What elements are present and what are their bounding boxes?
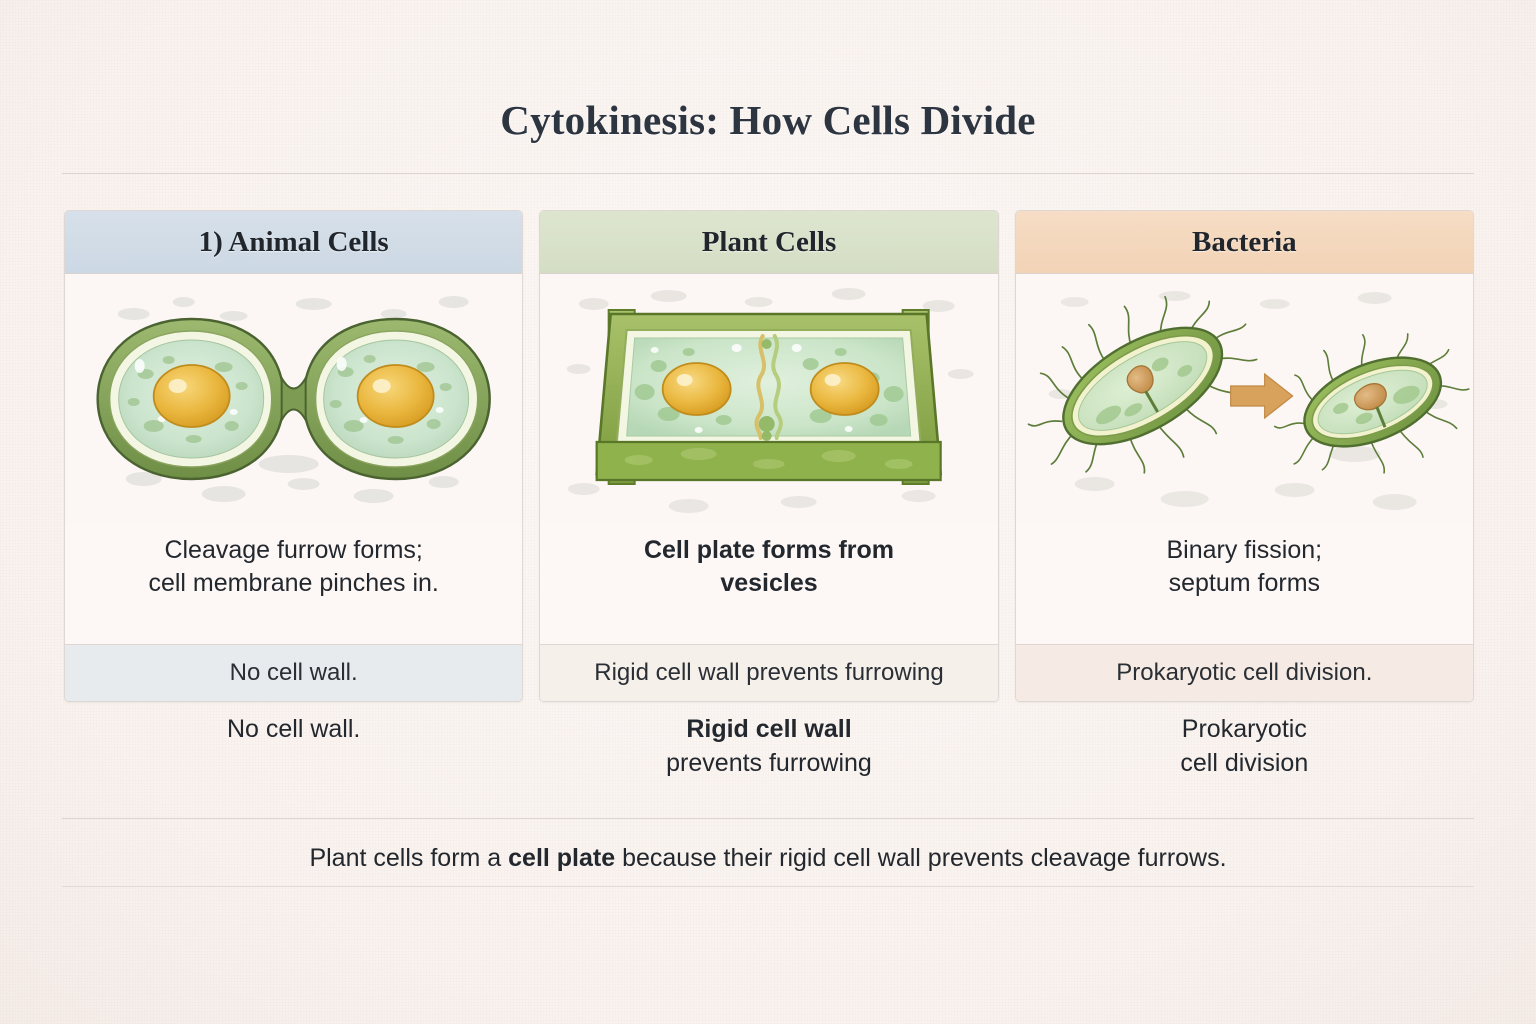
poster-sheet: Cytokinesis: How Cells Divide 1) Animal … — [0, 0, 1536, 1024]
animal-daughter-cell-left — [98, 319, 284, 479]
divider-top — [62, 173, 1474, 174]
panel-plant-cells-header: Plant Cells — [540, 211, 997, 274]
panel-bacteria-footer: Prokaryotic cell division. — [1016, 644, 1473, 701]
panel-bacteria-header: Bacteria — [1016, 211, 1473, 274]
panel-bacteria-caption: Binary fission; septum forms — [1016, 524, 1473, 644]
subcaption-line-2: cell division — [1015, 746, 1474, 780]
animal-daughter-cell-right — [304, 319, 490, 479]
panel-bacteria[interactable]: Bacteria — [1015, 210, 1474, 702]
plant-cell-cell-plate-illustration — [540, 274, 997, 524]
panel-plant-cells-footer: Rigid cell wall prevents furrowing — [540, 644, 997, 701]
panel-animal-cells[interactable]: 1) Animal Cells — [64, 210, 523, 702]
arrow-icon — [1230, 374, 1292, 418]
panel-animal-cells-caption: Cleavage furrow forms; cell membrane pin… — [65, 524, 522, 644]
subcaption-animal-cells: No cell wall. — [64, 712, 523, 804]
subcaption-bacteria: Prokaryotic cell division — [1015, 712, 1474, 804]
nucleus-right — [358, 365, 434, 427]
summary-emphasis: cell plate — [508, 844, 615, 872]
caption-line-2: vesicles — [720, 569, 817, 597]
divider-bottom — [62, 886, 1474, 887]
subcaption-plant-cells: Rigid cell wall prevents furrowing — [539, 712, 998, 804]
animal-cell-cleavage-furrow-illustration — [65, 274, 522, 524]
summary-statement: Plant cells form a cell plate because th… — [62, 832, 1474, 884]
summary-part-1: Plant cells form a — [309, 844, 508, 872]
subcaption-line-2: prevents furrowing — [539, 746, 998, 780]
caption-line-2: septum forms — [1169, 569, 1320, 597]
page-title: Cytokinesis: How Cells Divide — [0, 96, 1536, 144]
nucleus-left — [663, 363, 731, 415]
summary-part-2: because their rigid cell wall prevents c… — [615, 844, 1226, 872]
subcaption-line-1: Prokaryotic — [1015, 712, 1474, 746]
subcaptions-row: No cell wall. Rigid cell wall prevents f… — [64, 712, 1474, 804]
bacteria-binary-fission-illustration — [1016, 274, 1473, 524]
panel-animal-cells-footer: No cell wall. — [65, 644, 522, 701]
caption-line-2: cell membrane pinches in. — [148, 569, 438, 597]
cleavage-furrow — [282, 378, 306, 420]
caption-line-1: Cell plate forms from — [644, 536, 894, 564]
subcaption-line-1: No cell wall. — [64, 712, 523, 746]
caption-line-1: Cleavage furrow forms; — [164, 536, 422, 564]
nucleus-right — [811, 363, 879, 415]
caption-line-1: Binary fission; — [1167, 536, 1323, 564]
panel-plant-cells-caption: Cell plate forms from vesicles — [540, 524, 997, 644]
divider-middle — [62, 818, 1474, 819]
panel-animal-cells-header: 1) Animal Cells — [65, 211, 522, 274]
subcaption-line-1: Rigid cell wall — [539, 712, 998, 746]
panel-plant-cells[interactable]: Plant Cells — [539, 210, 998, 702]
panels-row: 1) Animal Cells — [64, 210, 1474, 702]
nucleus-left — [154, 365, 230, 427]
